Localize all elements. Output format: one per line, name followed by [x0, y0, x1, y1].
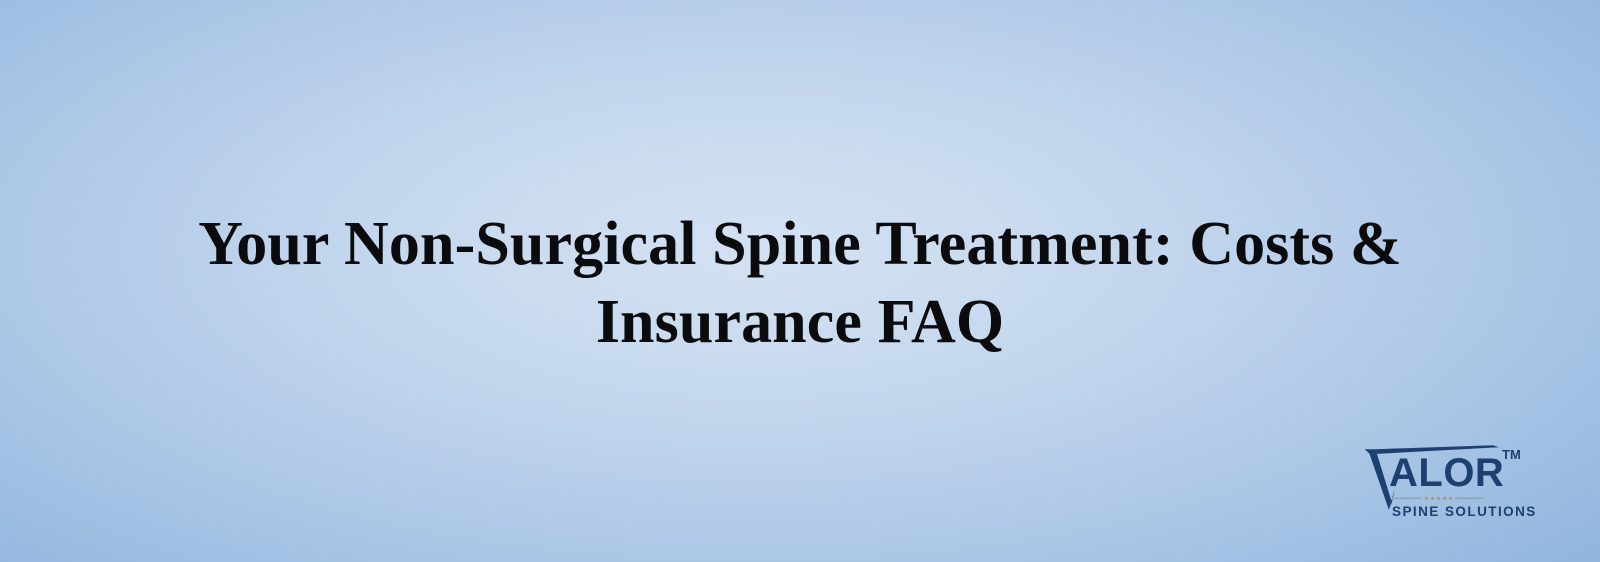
hero-banner: Your Non-Surgical Spine Treatment: Costs… [0, 0, 1600, 562]
page-title-container: Your Non-Surgical Spine Treatment: Costs… [0, 205, 1600, 361]
logo-wordmark: ALOR [1389, 451, 1504, 495]
logo-tagline: SPINE SOLUTIONS [1392, 504, 1537, 519]
page-title-line-2: Insurance FAQ [596, 288, 1004, 356]
logo-trademark-symbol: TM [1502, 447, 1521, 462]
valor-spine-solutions-logo[interactable]: ALOR TM SPINE SOLUTIONS [1361, 441, 1537, 525]
page-title-line-1: Your Non-Surgical Spine Treatment: Costs… [198, 210, 1401, 278]
logo-divider [1392, 497, 1484, 500]
page-title: Your Non-Surgical Spine Treatment: Costs… [90, 205, 1510, 361]
